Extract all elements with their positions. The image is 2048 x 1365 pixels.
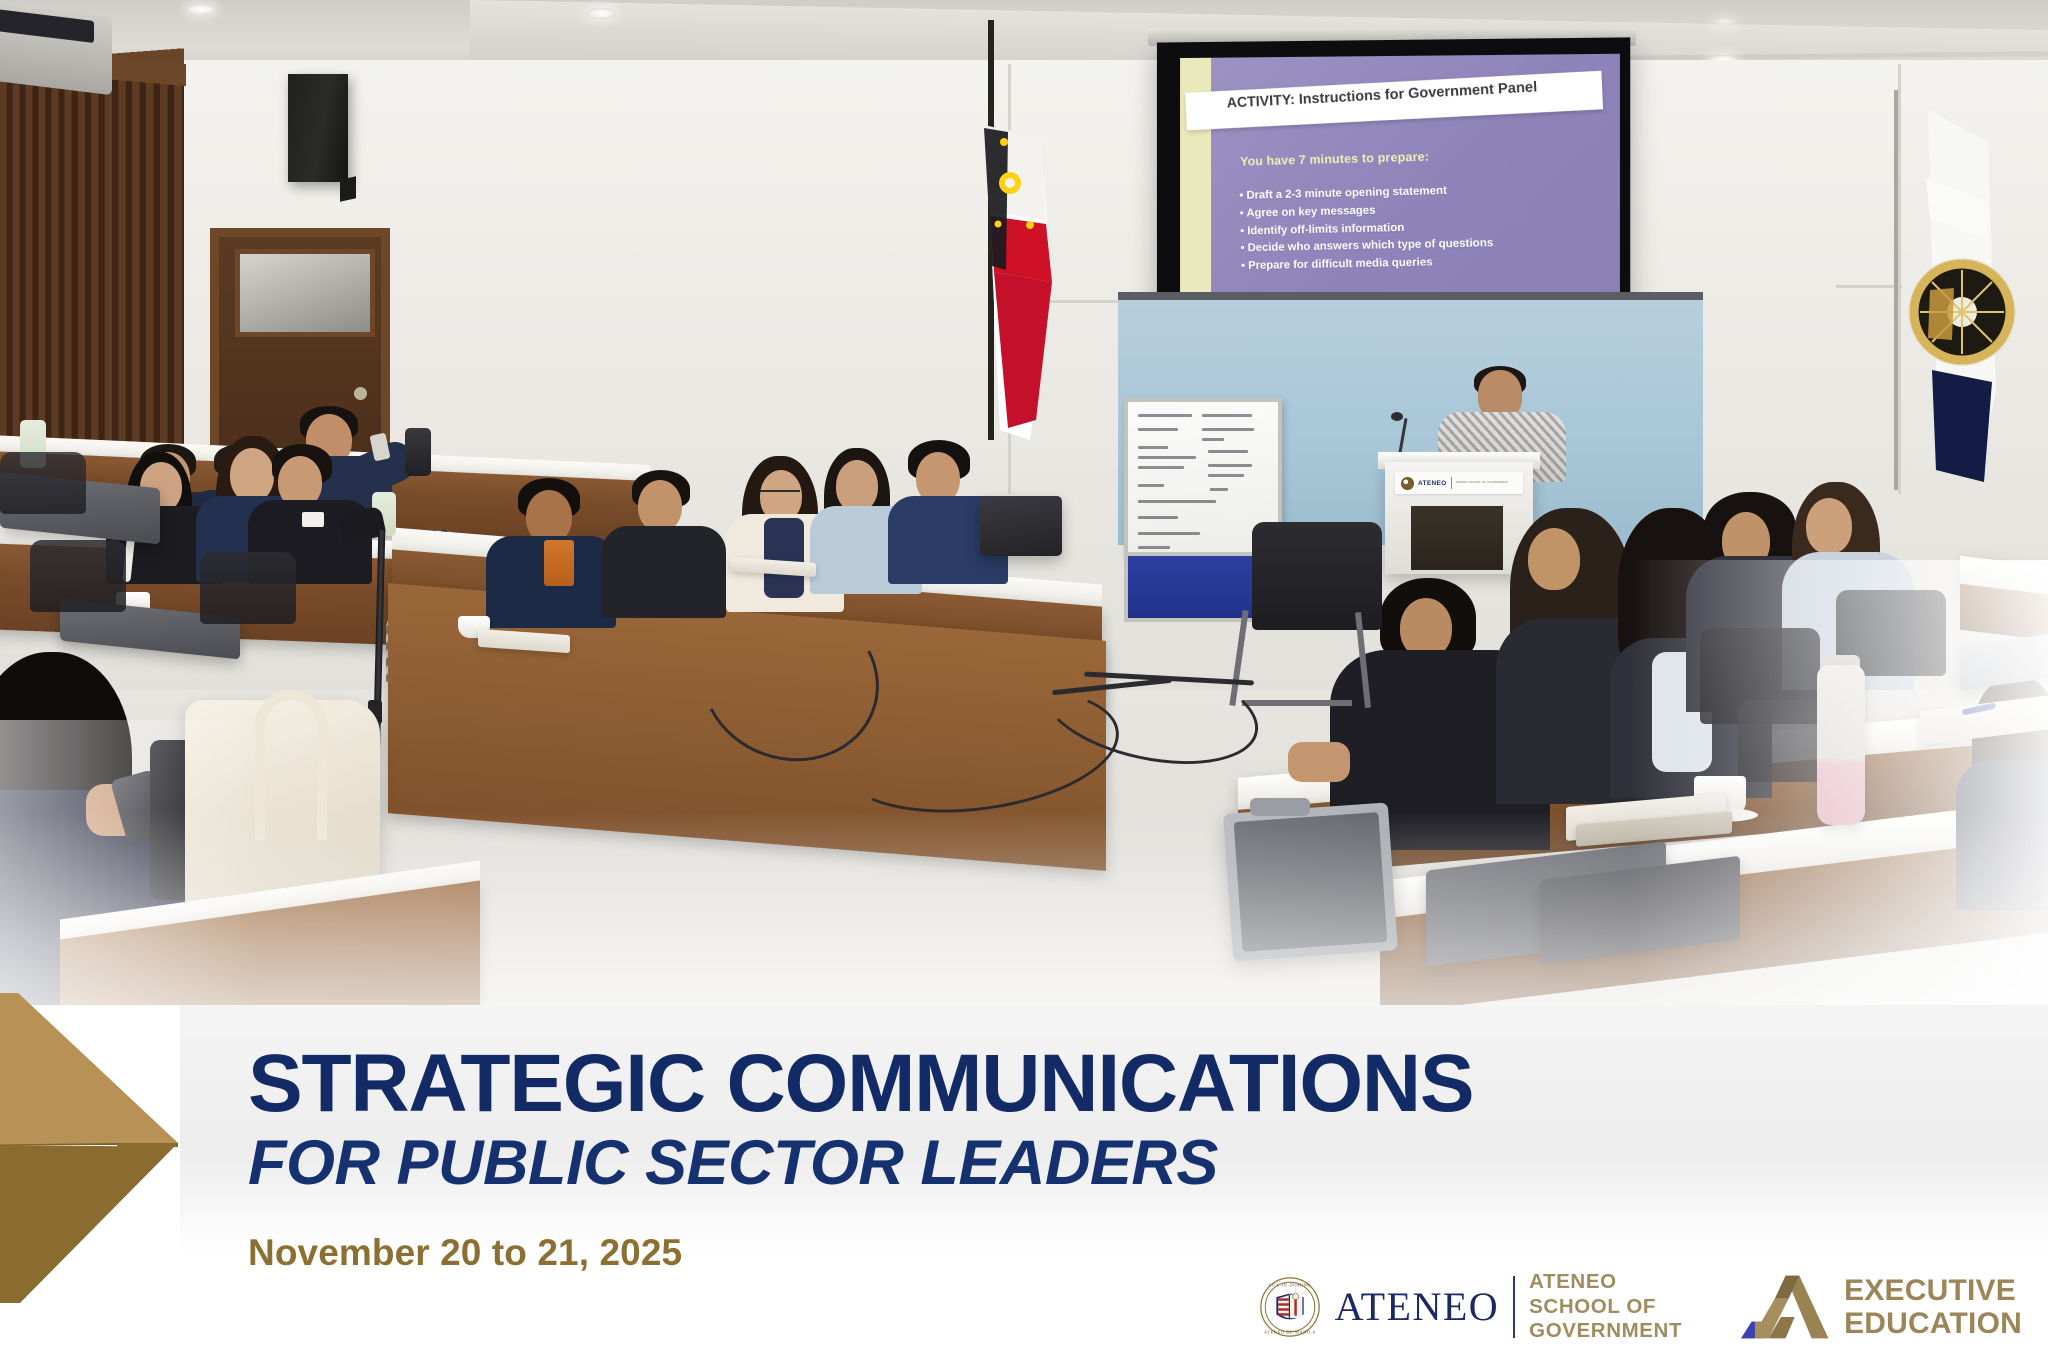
ateneo-wordmark: ATENEO (1335, 1283, 1500, 1330)
participant-head (230, 448, 274, 502)
podium-microphone-icon (1391, 412, 1403, 421)
slide-lead-text: You have 7 minutes to prepare: (1240, 150, 1429, 169)
participant-head (1528, 528, 1580, 590)
chair (200, 552, 296, 624)
gold-chevron-graphic (0, 985, 210, 1315)
ateneo-flag (1892, 90, 2048, 520)
event-photo: ACTIVITY: Instructions for Government Pa… (0, 0, 2048, 1140)
door-window (235, 249, 375, 337)
podium-recess (1411, 506, 1503, 570)
podium-plate-primary: ATENEO (1418, 480, 1447, 487)
svg-text:LUX·IN·DOMINO: LUX·IN·DOMINO (1269, 1282, 1311, 1287)
air-conditioner (0, 3, 112, 95)
tumbler (405, 428, 431, 476)
podium: ATENEO ATENEO SCHOOL OF GOVERNMENT (1385, 462, 1533, 574)
wall-speaker-icon (288, 74, 348, 182)
philippine-flag (880, 20, 1110, 440)
chair-leg (1242, 700, 1352, 706)
exed-line-2: EDUCATION (1844, 1307, 2022, 1340)
lanyard-accent (544, 540, 574, 586)
aircon-vent (0, 9, 94, 43)
executive-education-wordmark: EXECUTIVE EDUCATION (1844, 1274, 2022, 1340)
event-date: November 20 to 21, 2025 (248, 1232, 1648, 1274)
bag-strap (255, 690, 327, 840)
asog-line-2: SCHOOL OF (1529, 1295, 1682, 1319)
downlight-icon (586, 8, 616, 19)
logo-divider (1513, 1276, 1515, 1338)
asog-line-3: GOVERNMENT (1529, 1319, 1682, 1343)
event-poster: ACTIVITY: Instructions for Government Pa… (0, 0, 2048, 1365)
downlight-icon (1712, 17, 1738, 26)
participant-head (1806, 498, 1852, 554)
page-title: STRATEGIC COMMUNICATIONS (248, 1045, 1648, 1124)
participant-head (1400, 598, 1452, 658)
participant-body (1956, 760, 2048, 910)
chair (0, 452, 86, 514)
ateneo-seal-icon: LUX·IN·DOMINO ATENEO DE MANILA (1259, 1276, 1321, 1338)
page-subtitle: FOR PUBLIC SECTOR LEADERS (248, 1130, 1648, 1196)
logo-divider (1451, 477, 1452, 489)
tablet-on-stand (1223, 802, 1398, 961)
poster-title-block: STRATEGIC COMMUNICATIONS FOR PUBLIC SECT… (248, 1045, 1648, 1274)
ateneo-seal-icon (1401, 477, 1414, 490)
participant-body (602, 526, 726, 618)
tablet-screen (1234, 812, 1388, 952)
footer-logos: LUX·IN·DOMINO ATENEO DE MANILA (1259, 1270, 2022, 1343)
laptop (980, 496, 1062, 556)
podium-nameplate: ATENEO ATENEO SCHOOL OF GOVERNMENT (1395, 472, 1523, 494)
door-knob (354, 387, 367, 400)
water-bottle (1817, 665, 1865, 825)
ateneo-lockup: LUX·IN·DOMINO ATENEO DE MANILA (1259, 1270, 1682, 1343)
ateneo-school-of-government-wordmark: ATENEO SCHOOL OF GOVERNMENT (1529, 1270, 1682, 1343)
participant-head (836, 460, 878, 512)
eyeglasses-icon (760, 490, 800, 496)
executive-education-lockup: EXECUTIVE EDUCATION (1738, 1274, 2022, 1340)
hand (1288, 742, 1350, 782)
name-badge (302, 512, 324, 527)
poster-footer: STRATEGIC COMMUNICATIONS FOR PUBLIC SECT… (0, 1005, 2048, 1365)
podium-plate-secondary: ATENEO SCHOOL OF GOVERNMENT (1456, 481, 1509, 485)
chair (30, 540, 126, 612)
asog-line-1: ATENEO (1529, 1270, 1682, 1294)
inner-top (764, 518, 804, 598)
svg-text:ATENEO DE MANILA: ATENEO DE MANILA (1264, 1329, 1316, 1334)
slide-bullet-list: Draft a 2-3 minute opening statement Agr… (1239, 180, 1571, 276)
chair (1252, 522, 1382, 630)
participant-head (638, 480, 682, 532)
presentation-slide: ACTIVITY: Instructions for Government Pa… (1180, 54, 1620, 329)
downlight-icon (186, 4, 216, 15)
tablet-stand-hinge (1250, 798, 1310, 816)
exed-line-1: EXECUTIVE (1844, 1274, 2022, 1307)
executive-education-mark-icon (1738, 1274, 1830, 1340)
